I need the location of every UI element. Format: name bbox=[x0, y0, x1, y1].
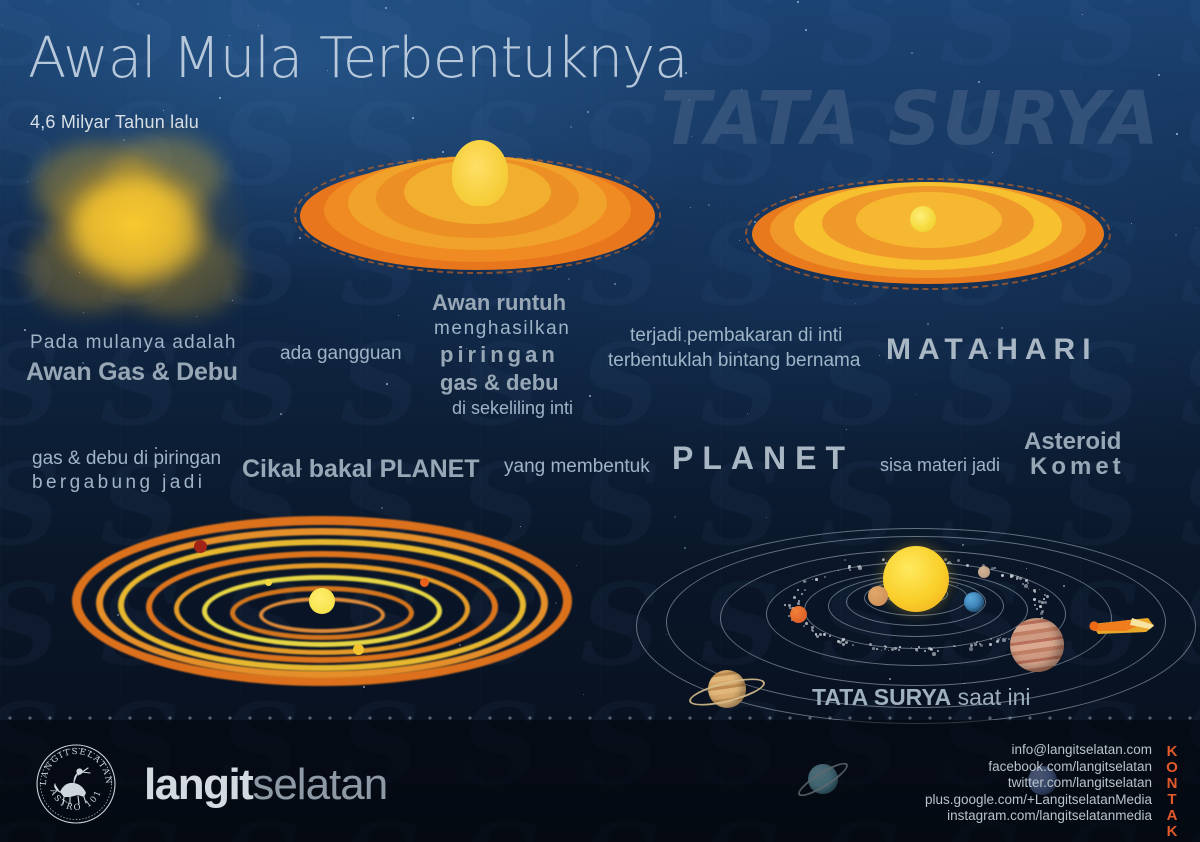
big-title-tata-surya: TATA SURYA bbox=[660, 76, 1160, 162]
planet-jupiter bbox=[1010, 618, 1064, 672]
contact-instagram[interactable]: instagram.com/langitselatanmedia bbox=[925, 808, 1152, 825]
star bbox=[2, 24, 3, 25]
star bbox=[916, 394, 917, 395]
star bbox=[855, 303, 856, 304]
star bbox=[219, 97, 221, 99]
comet bbox=[1088, 616, 1156, 642]
star bbox=[927, 323, 929, 325]
label-ada-gangguan: ada gangguan bbox=[280, 343, 402, 365]
label-planet: PLANET bbox=[672, 440, 854, 477]
contact-email[interactable]: info@langitselatan.com bbox=[925, 742, 1152, 759]
kontak-letter: T bbox=[1164, 792, 1182, 808]
label-awan-gas-debu: Awan Gas & Debu bbox=[26, 358, 238, 387]
star bbox=[570, 126, 572, 128]
langitselatan-wordmark: langitselatan bbox=[144, 760, 387, 810]
langitselatan-seal-logo: LANGITSELATAN ASTRO 101 bbox=[34, 742, 118, 826]
star bbox=[739, 240, 740, 241]
footer-divider bbox=[0, 716, 1200, 720]
asteroid bbox=[990, 638, 992, 640]
protoplanetary-disk-illustration bbox=[72, 516, 572, 686]
svg-text:LANGITSELATAN: LANGITSELATAN bbox=[38, 746, 114, 786]
kontak-letter: A bbox=[1164, 808, 1182, 824]
protoplanet-3 bbox=[420, 578, 429, 587]
star bbox=[797, 1, 799, 3]
asteroid bbox=[1044, 594, 1046, 596]
kontak-letter: K bbox=[1164, 744, 1182, 760]
protoplanet-1 bbox=[194, 540, 207, 553]
label-tata-surya-bold: TATA SURYA bbox=[812, 684, 951, 710]
star bbox=[568, 278, 570, 280]
asteroid bbox=[969, 647, 973, 651]
star bbox=[747, 413, 748, 414]
label-gas-debu-di-piringan: gas & debu di piringan bbox=[32, 448, 221, 470]
asteroid bbox=[953, 645, 955, 647]
label-terjadi-pembakaran: terjadi pembakaran di inti bbox=[630, 325, 842, 347]
star bbox=[589, 395, 591, 397]
page-title: Awal Mula Terbentuknya bbox=[28, 26, 688, 91]
label-asteroid: Asteroid bbox=[1024, 428, 1121, 456]
asteroid bbox=[829, 635, 831, 637]
asteroid bbox=[852, 644, 854, 646]
label-di-sekeliling-inti: di sekeliling inti bbox=[452, 398, 573, 419]
asteroid bbox=[1002, 638, 1006, 642]
asteroid bbox=[805, 622, 808, 625]
star bbox=[805, 29, 807, 31]
star bbox=[280, 413, 282, 415]
asteroid bbox=[932, 652, 936, 656]
asteroid bbox=[1046, 595, 1049, 598]
infographic-poster: SSSSSSSSSSSSSSSSSSSSSSSSSSSSSSSSSSSSSSSS… bbox=[0, 0, 1200, 842]
label-komet: Komet bbox=[1030, 453, 1125, 481]
asteroid bbox=[937, 650, 939, 652]
protoplanet-2 bbox=[265, 579, 272, 586]
star bbox=[1082, 14, 1083, 15]
label-menghasilkan: menghasilkan bbox=[434, 318, 570, 340]
asteroid bbox=[976, 641, 978, 643]
star bbox=[163, 110, 164, 111]
label-yang-membentuk: yang membentuk bbox=[504, 456, 650, 478]
star bbox=[1131, 223, 1132, 224]
asteroid bbox=[915, 648, 918, 651]
asteroid bbox=[1044, 601, 1047, 604]
asteroid bbox=[957, 559, 960, 562]
asteroid bbox=[918, 646, 920, 648]
watermark-glyph: S bbox=[0, 570, 61, 682]
label-cikal-bakal-planet: Cikal bakal PLANET bbox=[242, 455, 480, 484]
star bbox=[1001, 327, 1003, 329]
star bbox=[363, 686, 365, 688]
label-pada-mulanya: Pada mulanya adalah bbox=[30, 332, 237, 354]
star bbox=[1176, 133, 1178, 135]
planet-venus bbox=[868, 586, 888, 606]
asteroid bbox=[798, 600, 800, 602]
star bbox=[398, 315, 399, 316]
contact-twitter[interactable]: twitter.com/langitselatan bbox=[925, 775, 1152, 792]
planet-mars bbox=[790, 606, 807, 623]
asteroid bbox=[1010, 576, 1012, 578]
star bbox=[386, 383, 388, 385]
asteroid bbox=[1043, 598, 1045, 600]
label-gas-debu: gas & debu bbox=[440, 370, 559, 396]
watermark-glyph: S bbox=[820, 0, 901, 82]
contact-facebook[interactable]: facebook.com/langitselatan bbox=[925, 759, 1152, 776]
star bbox=[614, 283, 616, 285]
asteroid bbox=[859, 565, 861, 567]
asteroid bbox=[1033, 589, 1036, 592]
asteroid bbox=[898, 649, 900, 651]
label-tata-surya-suffix: saat ini bbox=[951, 684, 1030, 710]
star bbox=[583, 694, 584, 695]
asteroid bbox=[970, 644, 973, 647]
star bbox=[267, 12, 268, 13]
asteroid bbox=[882, 558, 885, 561]
label-piringan: piringan bbox=[440, 342, 559, 368]
star bbox=[385, 7, 387, 9]
star bbox=[846, 429, 847, 430]
star bbox=[381, 507, 383, 509]
asteroid bbox=[811, 626, 814, 629]
contact-list: info@langitselatan.com facebook.com/lang… bbox=[925, 742, 1152, 825]
watermark-glyph: S bbox=[1180, 210, 1200, 322]
planet-earth bbox=[964, 592, 984, 612]
star bbox=[137, 3, 139, 5]
label-tata-surya-saat-ini: TATA SURYA saat ini bbox=[812, 684, 1031, 711]
asteroid bbox=[869, 643, 872, 646]
protostar-disk-illustration bbox=[300, 140, 655, 275]
asteroid bbox=[894, 647, 897, 650]
gas-dust-cloud-illustration bbox=[14, 122, 258, 334]
planet-sun bbox=[883, 546, 949, 612]
asteroid bbox=[815, 578, 818, 581]
asteroid bbox=[801, 593, 803, 595]
star bbox=[1175, 234, 1177, 236]
label-awan-runtuh: Awan runtuh bbox=[432, 290, 566, 316]
kontak-vertical-label: KONTAK bbox=[1164, 744, 1182, 840]
label-sisa-materi-jadi: sisa materi jadi bbox=[880, 455, 1000, 476]
label-terbentuklah-bintang: terbentuklah bintang bernama bbox=[608, 350, 860, 372]
watermark-glyph: S bbox=[1180, 90, 1200, 202]
asteroid bbox=[944, 558, 947, 561]
star bbox=[708, 204, 710, 206]
asteroid bbox=[1034, 604, 1036, 606]
asteroid bbox=[891, 648, 894, 651]
star bbox=[587, 111, 589, 113]
watermark-glyph: S bbox=[700, 0, 781, 82]
watermark-glyph: S bbox=[1180, 330, 1200, 442]
asteroid bbox=[872, 647, 875, 650]
star bbox=[576, 565, 577, 566]
asteroid bbox=[1019, 577, 1022, 580]
asteroid bbox=[1024, 584, 1028, 588]
asteroid bbox=[797, 602, 800, 605]
asteroid bbox=[989, 643, 992, 646]
watermark-glyph: S bbox=[940, 0, 1021, 82]
label-matahari: MATAHARI bbox=[886, 333, 1098, 367]
star bbox=[911, 52, 913, 54]
asteroid bbox=[849, 569, 851, 571]
star-ignition-disk-illustration bbox=[752, 170, 1104, 294]
asteroid bbox=[980, 644, 983, 647]
asteroid bbox=[899, 646, 901, 648]
kontak-letter: K bbox=[1164, 824, 1182, 840]
star bbox=[879, 355, 880, 356]
asteroid bbox=[876, 648, 878, 650]
label-bergabung-jadi: bergabung jadi bbox=[32, 472, 205, 494]
kontak-letter: O bbox=[1164, 760, 1182, 776]
star bbox=[690, 207, 691, 208]
protostar bbox=[309, 588, 335, 614]
wordmark-selatan: selatan bbox=[252, 760, 387, 809]
asteroid bbox=[848, 567, 850, 569]
planet-mercury bbox=[978, 566, 990, 578]
wordmark-langit: langit bbox=[144, 760, 252, 809]
contact-googleplus[interactable]: plus.google.com/+LangitselatanMedia bbox=[925, 792, 1152, 809]
watermark-glyph: S bbox=[1060, 0, 1141, 82]
asteroid bbox=[1040, 612, 1043, 615]
star bbox=[1196, 228, 1197, 229]
protoplanet-4 bbox=[353, 644, 364, 655]
watermark-glyph: S bbox=[1180, 0, 1200, 82]
asteroid bbox=[1033, 598, 1036, 601]
star bbox=[412, 117, 414, 119]
kontak-letter: N bbox=[1164, 776, 1182, 792]
